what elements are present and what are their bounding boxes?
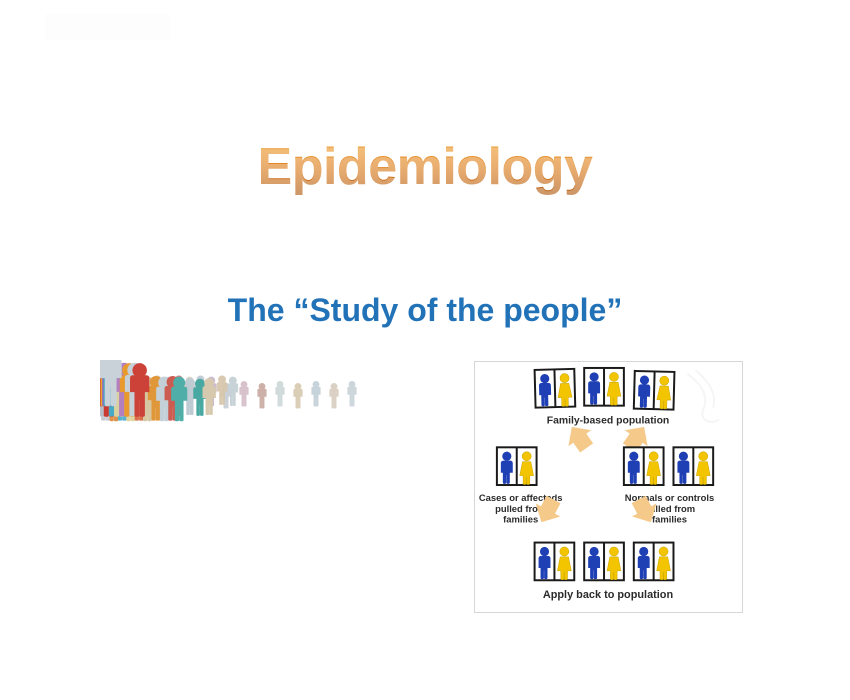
page-title: Epidemiology	[0, 140, 850, 195]
watermark	[687, 370, 719, 422]
slide-subtitle: The “Study of the people”	[0, 292, 850, 329]
diagram-label-apply-back-to-population: Apply back to population	[543, 589, 673, 601]
crowd-illustration	[100, 360, 372, 605]
diagram-label-family-based-population: Family-based population	[547, 416, 670, 427]
diagram-label-controls-line3: families	[652, 514, 687, 525]
diagram-row-family-based-population: Family-based population	[535, 368, 675, 427]
study-design-diagram: Family-based population Cases or affecte…	[474, 361, 743, 613]
study-design-svg: Family-based population Cases or affecte…	[475, 362, 742, 612]
top-left-placeholder-artifact	[45, 14, 170, 40]
crowd-figures-svg	[100, 360, 372, 605]
diagram-label-cases-line3: families	[503, 514, 538, 525]
arrow-converge-group	[529, 493, 663, 529]
diagram-row-apply-back-to-population: Apply back to population	[535, 543, 674, 602]
